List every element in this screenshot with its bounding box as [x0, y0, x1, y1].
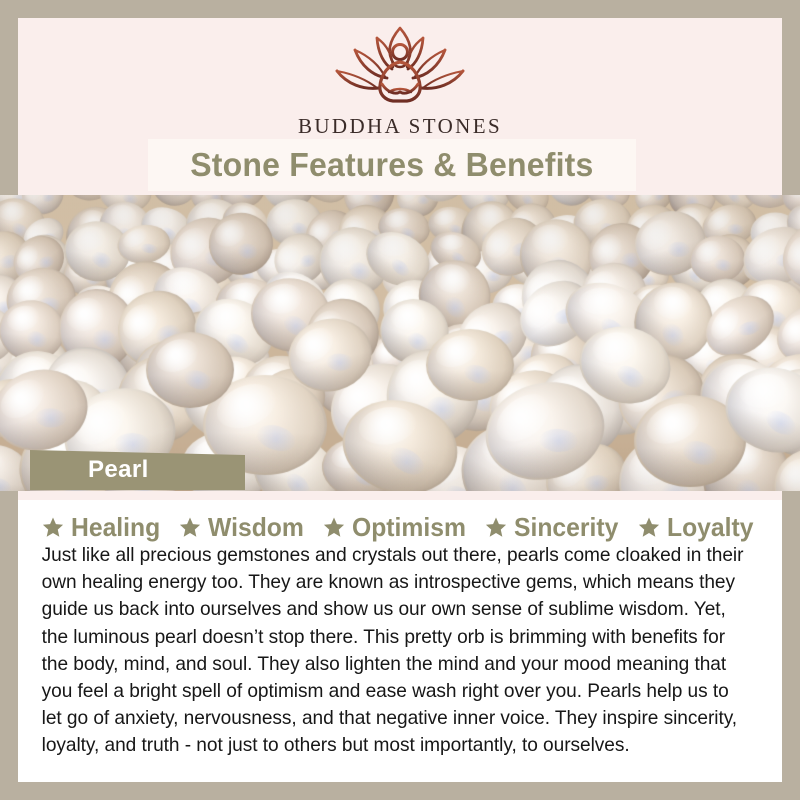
benefit-item: Loyalty — [638, 514, 758, 540]
star-icon — [42, 516, 64, 538]
benefit-label: Optimism — [352, 514, 466, 540]
description-text: Just like all precious gemstones and cry… — [18, 542, 771, 760]
pearls-photo — [0, 195, 800, 491]
benefit-item: Sincerity — [485, 514, 624, 540]
benefit-item: Wisdom — [179, 514, 309, 540]
brand-logo: BUDDHA STONES — [0, 22, 800, 137]
benefit-label: Wisdom — [208, 514, 304, 540]
star-icon — [323, 516, 345, 538]
hero-image — [0, 195, 800, 491]
benefit-item: Healing — [42, 514, 165, 540]
copy-panel: HealingWisdomOptimismSincerityLoyalty Ju… — [18, 500, 782, 782]
benefit-item: Optimism — [323, 514, 472, 540]
title-banner: Stone Features & Benefits — [148, 139, 636, 191]
benefits-list: HealingWisdomOptimismSincerityLoyalty — [18, 500, 782, 542]
lotus-meditation-icon — [325, 22, 475, 110]
stone-name-banner: Pearl — [30, 450, 245, 490]
poster-root: BUDDHA STONES Stone Features & Benefits … — [0, 0, 800, 800]
benefit-label: Healing — [71, 514, 160, 540]
page-title: Stone Features & Benefits — [190, 146, 593, 184]
benefit-label: Loyalty — [667, 514, 753, 540]
stone-name-label: Pearl — [30, 456, 149, 484]
benefit-label: Sincerity — [514, 514, 618, 540]
brand-wordmark: BUDDHA STONES — [0, 116, 800, 137]
star-icon — [638, 516, 660, 538]
star-icon — [179, 516, 201, 538]
star-icon — [485, 516, 507, 538]
